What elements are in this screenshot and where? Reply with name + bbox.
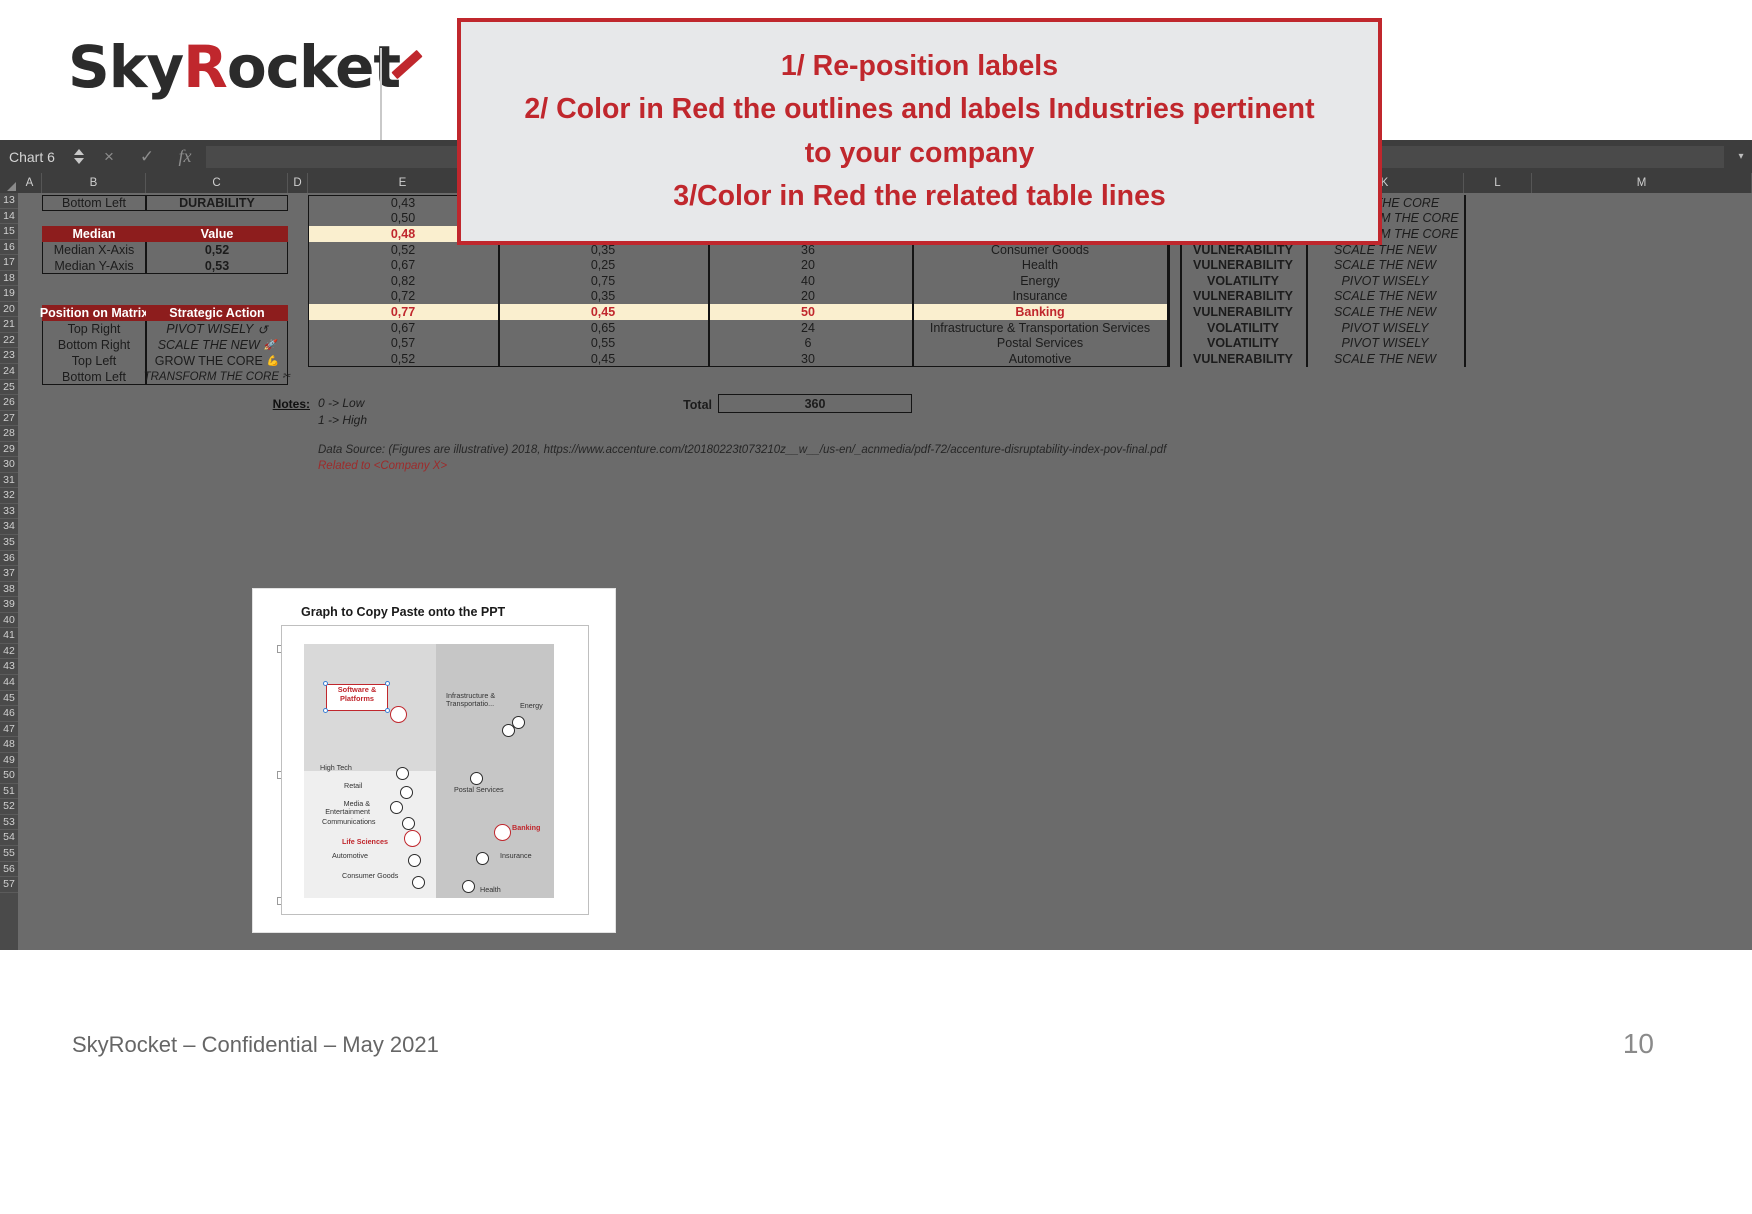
table-cell-industry-5[interactable]: Health bbox=[912, 257, 1168, 273]
row-header-37[interactable]: 37 bbox=[0, 566, 18, 582]
transform-the-core-icon: ✂ bbox=[282, 371, 290, 382]
table-column-separator bbox=[708, 335, 710, 351]
callout-line-3: to your company bbox=[805, 132, 1035, 175]
callout-line-2: 2/ Color in Red the outlines and labels … bbox=[524, 88, 1314, 131]
chart-label-banking[interactable]: Banking bbox=[512, 824, 540, 832]
table-cell-y-8[interactable]: 0,45 bbox=[498, 304, 708, 320]
table-cell-x-6[interactable]: 0,82 bbox=[308, 273, 498, 289]
data-source-company-line: Related to <Company X> bbox=[318, 458, 818, 474]
table-cell-action-5[interactable]: SCALE THE NEW bbox=[1306, 257, 1464, 273]
table-column-separator bbox=[708, 320, 710, 336]
row-header-18[interactable]: 18 bbox=[0, 271, 18, 287]
notes-line-1: 0 -> Low bbox=[318, 395, 538, 411]
row-header-29[interactable]: 29 bbox=[0, 442, 18, 458]
table-cell-type-10[interactable]: VOLATILITY bbox=[1180, 335, 1306, 351]
table-column-separator bbox=[498, 351, 500, 367]
label-handle-br[interactable] bbox=[385, 708, 390, 713]
selected-label-software-platforms[interactable]: Software & Platforms bbox=[326, 684, 388, 711]
chart-bubble-9[interactable] bbox=[502, 724, 515, 737]
table-column-separator bbox=[912, 351, 914, 367]
table-column-separator bbox=[1306, 304, 1308, 320]
table-cell-action-6[interactable]: PIVOT WISELY bbox=[1306, 273, 1464, 289]
cell-B13[interactable]: Bottom Left bbox=[42, 195, 146, 211]
table-cell-action-7[interactable]: SCALE THE NEW bbox=[1306, 289, 1464, 305]
row-header-39[interactable]: 39 bbox=[0, 597, 18, 613]
row-header-55[interactable]: 55 bbox=[0, 846, 18, 862]
chart-bubble-12[interactable] bbox=[476, 852, 489, 865]
row-header-44[interactable]: 44 bbox=[0, 675, 18, 691]
row-header-42[interactable]: 42 bbox=[0, 644, 18, 660]
cell-C22-text: GROW THE CORE bbox=[155, 354, 263, 368]
table-cell-y-5[interactable]: 0,25 bbox=[498, 257, 708, 273]
chart-bubble-1[interactable] bbox=[396, 767, 409, 780]
table-column-separator bbox=[1306, 351, 1308, 367]
table-column-separator bbox=[1180, 273, 1182, 289]
chart-label-retail[interactable]: Retail bbox=[344, 782, 362, 790]
grow-the-core-icon: 💪 bbox=[267, 356, 279, 367]
table-cell-x-10[interactable]: 0,57 bbox=[308, 335, 498, 351]
row-header-36[interactable]: 36 bbox=[0, 551, 18, 567]
table-column-separator bbox=[1464, 211, 1466, 227]
table-cell-action-9[interactable]: PIVOT WISELY bbox=[1306, 320, 1464, 336]
table-column-separator bbox=[498, 335, 500, 351]
table-column-separator bbox=[498, 320, 500, 336]
table-column-separator bbox=[1306, 257, 1308, 273]
cell-C15-value-header[interactable]: Value bbox=[146, 226, 288, 242]
table-cell-size-5[interactable]: 20 bbox=[708, 257, 908, 273]
row-header-49[interactable]: 49 bbox=[0, 753, 18, 769]
column-header-D[interactable]: D bbox=[288, 173, 308, 193]
cell-B15-median-header[interactable]: Median bbox=[42, 226, 146, 242]
row-header-23[interactable]: 23 bbox=[0, 348, 18, 364]
table-cell-industry-6[interactable]: Energy bbox=[912, 273, 1168, 289]
row-header-15[interactable]: 15 bbox=[0, 224, 18, 240]
row-header-20[interactable]: 20 bbox=[0, 302, 18, 318]
cell-C17[interactable]: 0,53 bbox=[146, 258, 288, 274]
instruction-callout: 1/ Re-position labels 2/ Color in Red th… bbox=[457, 18, 1382, 245]
chart-label-health[interactable]: Health bbox=[480, 886, 501, 894]
cell-B16[interactable]: Median X-Axis bbox=[42, 242, 146, 258]
total-label: Total bbox=[658, 396, 718, 413]
table-column-separator bbox=[1180, 351, 1182, 367]
row-header-41[interactable]: 41 bbox=[0, 628, 18, 644]
skyrocket-logo: SkyRocket bbox=[68, 38, 400, 96]
table-column-separator bbox=[1306, 335, 1308, 351]
row-header-16[interactable]: 16 bbox=[0, 240, 18, 256]
cell-B23[interactable]: Bottom Left bbox=[42, 369, 146, 385]
row-header-26[interactable]: 26 bbox=[0, 395, 18, 411]
row-header-57[interactable]: 57 bbox=[0, 877, 18, 893]
table-cell-action-11[interactable]: SCALE THE NEW bbox=[1306, 351, 1464, 367]
row-header-22[interactable]: 22 bbox=[0, 333, 18, 349]
chart-bubble-3[interactable] bbox=[390, 801, 403, 814]
pivot-wisely-icon: ↺ bbox=[257, 322, 267, 337]
table-column-separator bbox=[1464, 335, 1466, 351]
confirm-formula-icon[interactable]: ✓ bbox=[128, 140, 166, 173]
table-column-separator bbox=[498, 304, 500, 320]
table-cell-industry-9[interactable]: Infrastructure & Transportation Services bbox=[912, 320, 1168, 336]
table-cell-action-8[interactable]: SCALE THE NEW bbox=[1306, 304, 1464, 320]
chart-label-postal-services[interactable]: Postal Services bbox=[454, 786, 504, 794]
row-header-25[interactable]: 25 bbox=[0, 380, 18, 396]
total-value[interactable]: 360 bbox=[718, 394, 912, 413]
table-column-separator bbox=[1306, 273, 1308, 289]
embedded-chart-title: Graph to Copy Paste onto the PPT bbox=[301, 605, 505, 619]
table-cell-industry-11[interactable]: Automotive bbox=[912, 351, 1168, 367]
cell-B19-position-header[interactable]: Position on Matrix bbox=[42, 305, 146, 321]
table-column-separator bbox=[1168, 273, 1170, 289]
slide-page-number: 10 bbox=[1623, 1028, 1654, 1060]
table-column-separator bbox=[1464, 320, 1466, 336]
selected-label-line2: Platforms bbox=[340, 694, 374, 703]
chart-bubble-7[interactable] bbox=[412, 876, 425, 889]
table-column-separator bbox=[1180, 335, 1182, 351]
table-column-separator bbox=[912, 273, 914, 289]
table-column-separator bbox=[708, 273, 710, 289]
table-column-separator bbox=[1180, 257, 1182, 273]
chart-label-communications[interactable]: Communications bbox=[322, 818, 376, 826]
table-column-separator bbox=[1464, 195, 1466, 211]
header-divider bbox=[380, 48, 382, 140]
row-header-31[interactable]: 31 bbox=[0, 473, 18, 489]
chart-label-insurance[interactable]: Insurance bbox=[500, 852, 532, 860]
row-header-47[interactable]: 47 bbox=[0, 722, 18, 738]
chart-bubble-13[interactable] bbox=[462, 880, 475, 893]
table-cell-type-7[interactable]: VULNERABILITY bbox=[1180, 289, 1306, 305]
chart-label-high-tech[interactable]: High Tech bbox=[320, 764, 352, 772]
chart-bubble-0[interactable] bbox=[390, 706, 407, 723]
cell-B21[interactable]: Bottom Right bbox=[42, 337, 146, 353]
row-headers[interactable]: 1314151617181920212223242526272829303132… bbox=[0, 193, 18, 1016]
table-column-separator bbox=[1464, 257, 1466, 273]
table-column-separator bbox=[1168, 335, 1170, 351]
table-cell-industry-10[interactable]: Postal Services bbox=[912, 335, 1168, 351]
table-column-separator bbox=[1180, 289, 1182, 305]
data-source-line: Data Source: (Figures are illustrative) … bbox=[318, 442, 1418, 458]
table-cell-type-8[interactable]: VULNERABILITY bbox=[1180, 304, 1306, 320]
row-header-52[interactable]: 52 bbox=[0, 799, 18, 815]
table-cell-y-11[interactable]: 0,45 bbox=[498, 351, 708, 367]
cell-C13[interactable]: DURABILITY bbox=[146, 195, 288, 211]
table-column-separator bbox=[498, 257, 500, 273]
row-header-24[interactable]: 24 bbox=[0, 364, 18, 380]
logo-letter-r: R bbox=[183, 33, 227, 101]
cell-C20[interactable]: PIVOT WISELY ↺ bbox=[146, 321, 288, 337]
name-box-spinner[interactable] bbox=[68, 140, 90, 173]
cell-C23-text: TRANSFORM THE CORE bbox=[144, 371, 279, 383]
table-column-separator bbox=[1464, 351, 1466, 367]
cell-C21-text: SCALE THE NEW bbox=[158, 338, 260, 352]
table-column-separator bbox=[708, 304, 710, 320]
chart-label-automotive[interactable]: Automotive bbox=[332, 852, 368, 860]
chart-label-consumer-goods[interactable]: Consumer Goods bbox=[342, 872, 398, 880]
chart-label-energy[interactable]: Energy bbox=[520, 702, 543, 710]
chart-plot-frame: High TechRetailMedia & EntertainmentComm… bbox=[281, 625, 589, 915]
table-cell-y-10[interactable]: 0,55 bbox=[498, 335, 708, 351]
table-cell-x-5[interactable]: 0,67 bbox=[308, 257, 498, 273]
table-column-separator bbox=[1464, 304, 1466, 320]
expand-formula-bar-icon[interactable]: ▾ bbox=[1730, 140, 1752, 173]
table-cell-industry-8[interactable]: Banking bbox=[912, 304, 1168, 320]
row-header-56[interactable]: 56 bbox=[0, 862, 18, 878]
row-header-28[interactable]: 28 bbox=[0, 426, 18, 442]
chart-label-infrastructure-transportatio[interactable]: Infrastructure & Transportatio... bbox=[446, 692, 510, 709]
column-header-C[interactable]: C bbox=[146, 173, 288, 193]
row-header-13[interactable]: 13 bbox=[0, 193, 18, 209]
chart-label-media-entertainment[interactable]: Media & Entertainment bbox=[306, 800, 370, 817]
chart-bubble-10[interactable] bbox=[470, 772, 483, 785]
row-header-33[interactable]: 33 bbox=[0, 504, 18, 520]
cell-C20-text: PIVOT WISELY bbox=[166, 322, 253, 336]
table-column-separator bbox=[708, 289, 710, 305]
row-header-27[interactable]: 27 bbox=[0, 411, 18, 427]
chart-quadrants: High TechRetailMedia & EntertainmentComm… bbox=[304, 644, 568, 898]
column-header-A[interactable]: A bbox=[18, 173, 42, 193]
table-cell-size-9[interactable]: 24 bbox=[708, 320, 908, 336]
table-column-separator bbox=[912, 257, 914, 273]
embedded-chart-picture[interactable]: Graph to Copy Paste onto the PPT High Te… bbox=[252, 588, 616, 933]
table-column-separator bbox=[912, 320, 914, 336]
chart-label-life-sciences[interactable]: Life Sciences bbox=[342, 838, 388, 846]
excel-window: Chart 6 × ✓ fx ▾ A B C D E F G H I J K L… bbox=[0, 140, 1752, 950]
row-header-14[interactable]: 14 bbox=[0, 209, 18, 225]
row-header-35[interactable]: 35 bbox=[0, 535, 18, 551]
slide-footer: SkyRocket – Confidential – May 2021 10 bbox=[0, 950, 1752, 1214]
chart-bubble-2[interactable] bbox=[400, 786, 413, 799]
cancel-formula-icon[interactable]: × bbox=[90, 140, 128, 173]
table-cell-action-10[interactable]: PIVOT WISELY bbox=[1306, 335, 1464, 351]
table-column-separator bbox=[1306, 320, 1308, 336]
row-header-48[interactable]: 48 bbox=[0, 737, 18, 753]
scale-the-new-icon: 🚀 bbox=[264, 340, 276, 351]
table-column-separator bbox=[708, 351, 710, 367]
table-column-separator bbox=[498, 273, 500, 289]
cell-C19-action-header[interactable]: Strategic Action bbox=[146, 305, 288, 321]
table-cell-type-5[interactable]: VULNERABILITY bbox=[1180, 257, 1306, 273]
table-column-separator bbox=[1180, 320, 1182, 336]
table-column-separator bbox=[912, 304, 914, 320]
row-header-17[interactable]: 17 bbox=[0, 255, 18, 271]
table-column-separator bbox=[1306, 289, 1308, 305]
table-column-separator bbox=[1168, 320, 1170, 336]
table-column-separator bbox=[1464, 242, 1466, 258]
table-column-separator bbox=[1168, 351, 1170, 367]
table-cell-y-7[interactable]: 0,35 bbox=[498, 289, 708, 305]
table-cell-size-8[interactable]: 50 bbox=[708, 304, 908, 320]
table-column-separator bbox=[498, 289, 500, 305]
cell-C23[interactable]: TRANSFORM THE CORE ✂ bbox=[146, 369, 288, 385]
cell-B17[interactable]: Median Y-Axis bbox=[42, 258, 146, 274]
table-column-separator bbox=[912, 289, 914, 305]
row-header-53[interactable]: 53 bbox=[0, 815, 18, 831]
logo-text-ocket: ocket bbox=[227, 33, 400, 101]
table-column-separator bbox=[1168, 257, 1170, 273]
row-header-38[interactable]: 38 bbox=[0, 582, 18, 598]
table-column-separator bbox=[1168, 289, 1170, 305]
notes-label: Notes: bbox=[250, 396, 310, 412]
cell-C22[interactable]: GROW THE CORE 💪 bbox=[146, 353, 288, 369]
label-handle-tr[interactable] bbox=[385, 681, 390, 686]
row-header-50[interactable]: 50 bbox=[0, 768, 18, 784]
table-cell-type-11[interactable]: VULNERABILITY bbox=[1180, 351, 1306, 367]
chart-bubble-6[interactable] bbox=[408, 854, 421, 867]
callout-line-1: 1/ Re-position labels bbox=[781, 45, 1058, 88]
logo-text-sky: Sky bbox=[68, 33, 183, 101]
name-box[interactable]: Chart 6 bbox=[0, 140, 68, 173]
table-cell-size-6[interactable]: 40 bbox=[708, 273, 908, 289]
table-cell-industry-7[interactable]: Insurance bbox=[912, 289, 1168, 305]
row-header-19[interactable]: 19 bbox=[0, 286, 18, 302]
table-cell-x-7[interactable]: 0,72 bbox=[308, 289, 498, 305]
notes-line-2: 1 -> High bbox=[318, 412, 538, 428]
column-header-B[interactable]: B bbox=[42, 173, 146, 193]
table-cell-x-9[interactable]: 0,67 bbox=[308, 320, 498, 336]
select-all-corner[interactable] bbox=[0, 173, 18, 193]
chart-bubble-11[interactable] bbox=[494, 824, 511, 841]
table-cell-type-9[interactable]: VOLATILITY bbox=[1180, 320, 1306, 336]
cell-B20[interactable]: Top Right bbox=[42, 321, 146, 337]
callout-line-4: 3/Color in Red the related table lines bbox=[673, 175, 1166, 218]
column-header-M[interactable]: M bbox=[1532, 173, 1752, 193]
row-header-45[interactable]: 45 bbox=[0, 691, 18, 707]
row-header-34[interactable]: 34 bbox=[0, 519, 18, 535]
table-column-separator bbox=[1180, 304, 1182, 320]
row-header-51[interactable]: 51 bbox=[0, 784, 18, 800]
cell-C16[interactable]: 0,52 bbox=[146, 242, 288, 258]
row-header-32[interactable]: 32 bbox=[0, 488, 18, 504]
table-cell-size-7[interactable]: 20 bbox=[708, 289, 908, 305]
chart-bubble-4[interactable] bbox=[402, 817, 415, 830]
chart-bubble-5[interactable] bbox=[404, 830, 421, 847]
table-cell-type-6[interactable]: VOLATILITY bbox=[1180, 273, 1306, 289]
table-cell-x-8[interactable]: 0,77 bbox=[308, 304, 498, 320]
table-column-separator bbox=[912, 335, 914, 351]
cell-B22[interactable]: Top Left bbox=[42, 353, 146, 369]
table-cell-y-6[interactable]: 0,75 bbox=[498, 273, 708, 289]
row-header-21[interactable]: 21 bbox=[0, 317, 18, 333]
label-handle-tl[interactable] bbox=[323, 681, 328, 686]
table-column-separator bbox=[1464, 289, 1466, 305]
insert-function-icon[interactable]: fx bbox=[166, 140, 204, 173]
table-cell-y-9[interactable]: 0,65 bbox=[498, 320, 708, 336]
row-header-46[interactable]: 46 bbox=[0, 706, 18, 722]
table-column-separator bbox=[1464, 226, 1466, 242]
row-header-54[interactable]: 54 bbox=[0, 830, 18, 846]
cell-C21[interactable]: SCALE THE NEW 🚀 bbox=[146, 337, 288, 353]
label-handle-bl[interactable] bbox=[323, 708, 328, 713]
footer-confidential-text: SkyRocket – Confidential – May 2021 bbox=[72, 1032, 439, 1058]
table-cell-size-11[interactable]: 30 bbox=[708, 351, 908, 367]
table-cell-size-10[interactable]: 6 bbox=[708, 335, 908, 351]
table-column-separator bbox=[1464, 273, 1466, 289]
row-header-40[interactable]: 40 bbox=[0, 613, 18, 629]
table-column-separator bbox=[708, 257, 710, 273]
table-cell-x-11[interactable]: 0,52 bbox=[308, 351, 498, 367]
row-header-30[interactable]: 30 bbox=[0, 457, 18, 473]
column-header-L[interactable]: L bbox=[1464, 173, 1532, 193]
row-header-43[interactable]: 43 bbox=[0, 659, 18, 675]
table-column-separator bbox=[1168, 304, 1170, 320]
